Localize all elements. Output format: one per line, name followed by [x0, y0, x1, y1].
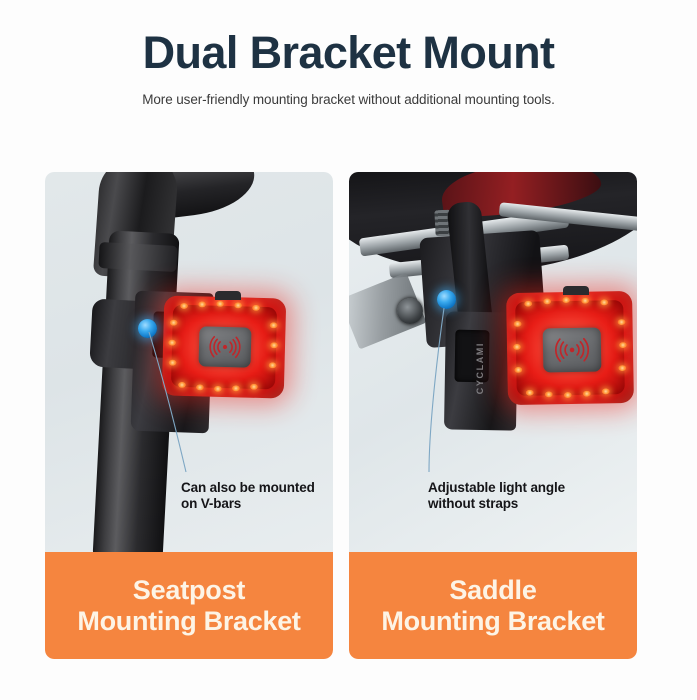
photo-saddle: CYCLAMI [349, 172, 637, 552]
callout-line-2: on V-bars [181, 496, 315, 512]
callout-line-2: without straps [428, 496, 565, 512]
callout-line-1: Can also be mounted [181, 480, 315, 496]
banner-saddle: Saddle Mounting Bracket [349, 552, 637, 659]
photo-seatpost: Can also be mounted on V-bars [45, 172, 333, 552]
banner-title-line-1: Saddle [449, 575, 536, 605]
callout-saddle: Adjustable light angle without straps [428, 480, 565, 513]
banner-title-line-1: Seatpost [133, 575, 245, 605]
callout-line-1: Adjustable light angle [428, 480, 565, 496]
panels-row: Can also be mounted on V-bars Seatpost M… [45, 172, 652, 659]
panel-saddle[interactable]: CYCLAMI [349, 172, 637, 659]
product-feature-page: Dual Bracket Mount More user-friendly mo… [0, 0, 697, 700]
page-subtitle: More user-friendly mounting bracket with… [0, 92, 697, 107]
header: Dual Bracket Mount More user-friendly mo… [0, 0, 697, 107]
banner-title-line-2: Mounting Bracket [381, 606, 604, 636]
callout-seatpost: Can also be mounted on V-bars [181, 480, 315, 513]
banner-seatpost: Seatpost Mounting Bracket [45, 552, 333, 659]
page-title: Dual Bracket Mount [0, 28, 697, 78]
banner-title-line-2: Mounting Bracket [77, 606, 300, 636]
panel-seatpost[interactable]: Can also be mounted on V-bars Seatpost M… [45, 172, 333, 659]
